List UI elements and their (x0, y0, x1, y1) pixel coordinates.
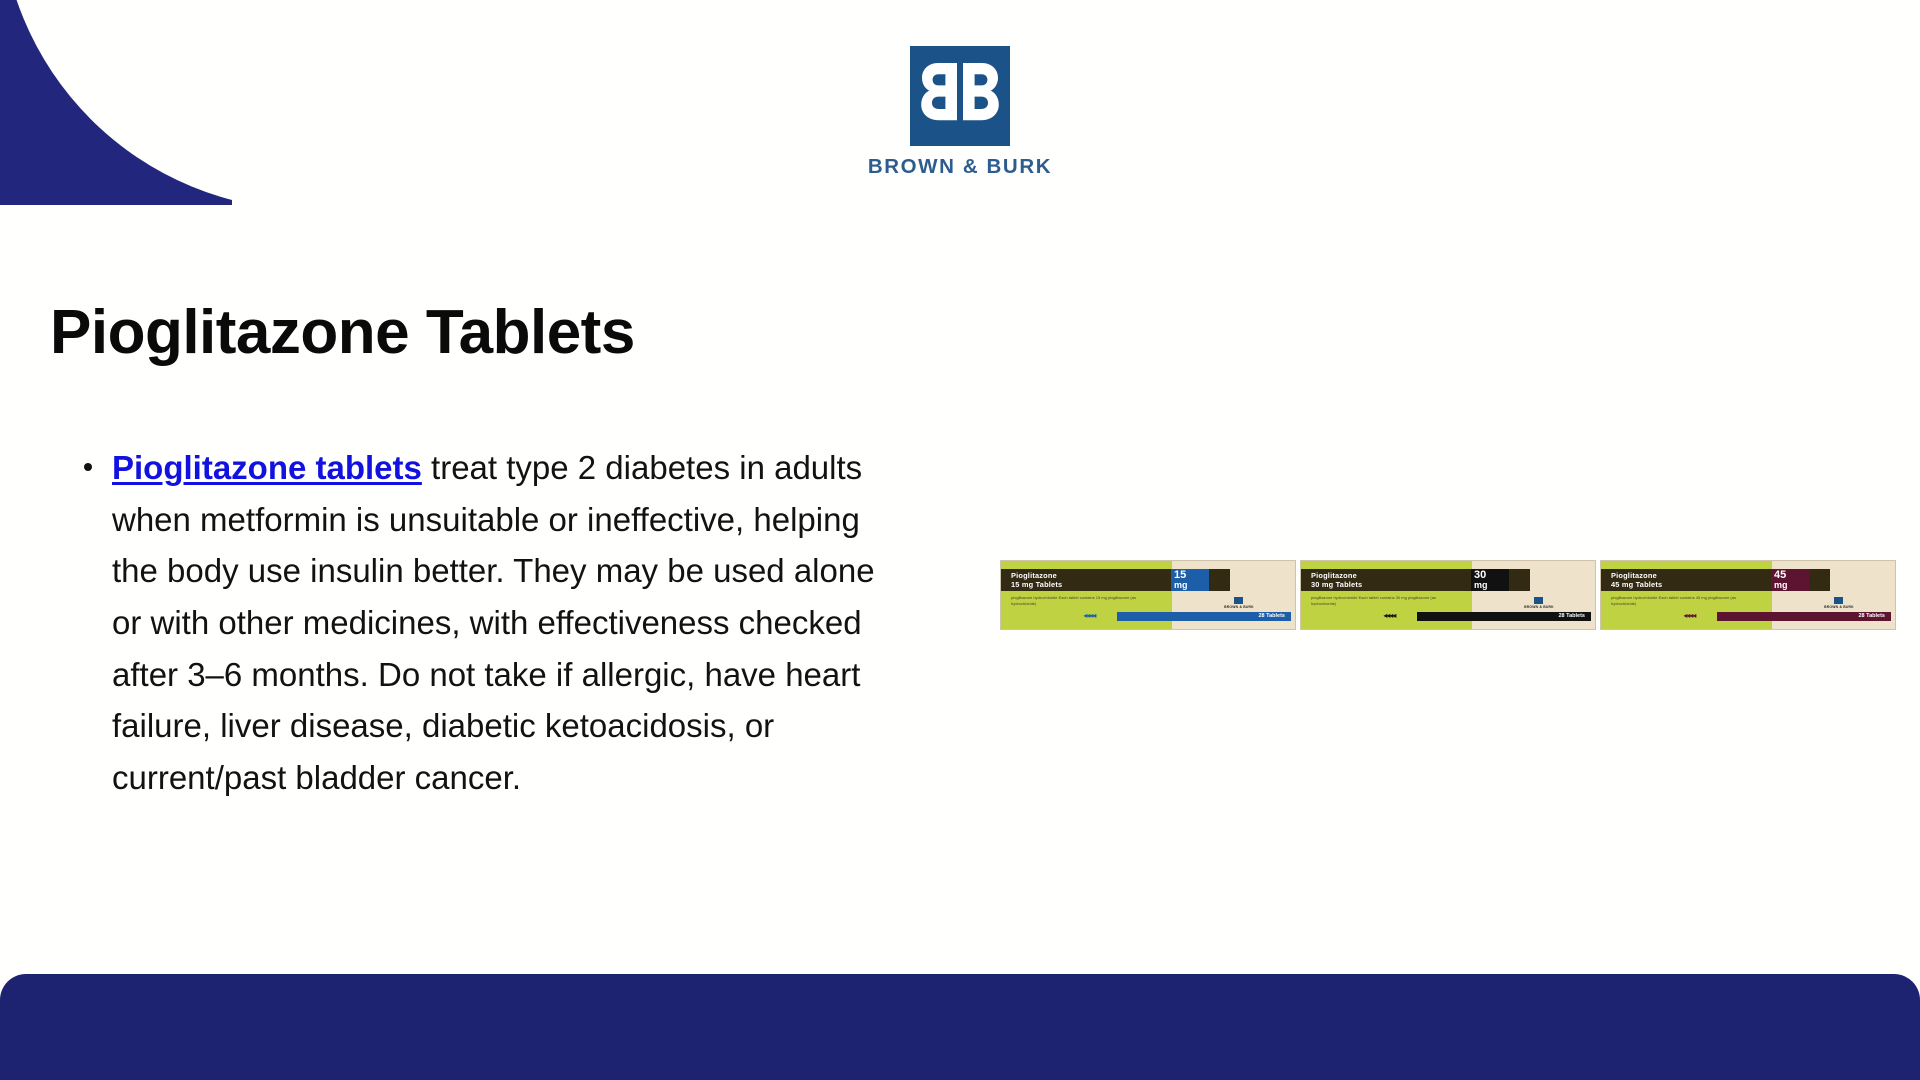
carton-product-name: Pioglitazone (1011, 571, 1057, 580)
carton-bb-icon (1234, 597, 1243, 604)
carton-brand-name: BROWN & BURK (1224, 605, 1254, 609)
carton-product-name: Pioglitazone (1311, 571, 1357, 580)
pioglitazone-tablets-link[interactable]: Pioglitazone tablets (112, 449, 422, 486)
page-title: Pioglitazone Tablets (50, 300, 635, 366)
carton-tablet-count: 28 Tablets (1259, 612, 1286, 621)
carton-strength-line: 15 mg Tablets (1011, 580, 1062, 589)
carton-badge-unit: mg (1774, 580, 1809, 590)
brand-logo: BROWN & BURK (0, 46, 1920, 179)
carton-badge-unit: mg (1174, 580, 1209, 590)
carton-fine-print: pioglitazone hydrochloride Each tablet c… (1011, 595, 1141, 607)
carton-brand-mini: BROWN & BURK (1824, 597, 1854, 609)
carton-bb-icon (1834, 597, 1843, 604)
brand-name: BROWN & BURK (868, 155, 1052, 179)
carton-bottom-strip: ◂◂◂◂ 28 Tablets (1383, 612, 1591, 621)
carton-brand-mini: BROWN & BURK (1224, 597, 1254, 609)
carton-strength-line: 45 mg Tablets (1611, 580, 1662, 589)
carton-product-name: Pioglitazone (1611, 571, 1657, 580)
carton-bottom-strip: ◂◂◂◂ 28 Tablets (1083, 612, 1291, 621)
carton-brand-name: BROWN & BURK (1524, 605, 1554, 609)
chevron-arrows-icon: ◂◂◂◂ (1083, 611, 1095, 621)
carton-15mg: Pioglitazone 15 mg Tablets 15 mg pioglit… (1000, 560, 1296, 630)
carton-strength-line: 30 mg Tablets (1311, 580, 1362, 589)
carton-badge-unit: mg (1474, 580, 1509, 590)
carton-brand-mini: BROWN & BURK (1524, 597, 1554, 609)
carton-bottom-strip: ◂◂◂◂ 28 Tablets (1683, 612, 1891, 621)
list-item: Pioglitazone tablets treat type 2 diabet… (72, 442, 902, 803)
carton-fine-print: pioglitazone hydrochloride Each tablet c… (1311, 595, 1441, 607)
bullet-body-text: treat type 2 diabetes in adults when met… (112, 449, 875, 796)
carton-strength-badge: 30 mg (1471, 569, 1509, 591)
chevron-arrows-icon: ◂◂◂◂ (1383, 611, 1395, 621)
carton-tablet-count: 28 Tablets (1859, 612, 1886, 621)
carton-bb-icon (1534, 597, 1543, 604)
slide: BROWN & BURK Pioglitazone Tablets Piogli… (0, 0, 1920, 1080)
chevron-arrows-icon: ◂◂◂◂ (1683, 611, 1695, 621)
carton-30mg: Pioglitazone 30 mg Tablets 30 mg pioglit… (1300, 560, 1596, 630)
carton-strength-badge: 15 mg (1171, 569, 1209, 591)
carton-fine-print: pioglitazone hydrochloride Each tablet c… (1611, 595, 1741, 607)
body-bullet-list: Pioglitazone tablets treat type 2 diabet… (72, 442, 902, 803)
product-photo: Pioglitazone 15 mg Tablets 15 mg pioglit… (1000, 560, 1896, 638)
carton-45mg: Pioglitazone 45 mg Tablets 45 mg pioglit… (1600, 560, 1896, 630)
bb-monogram-icon (910, 46, 1010, 146)
carton-strength-badge: 45 mg (1771, 569, 1809, 591)
bottom-navy-band (0, 974, 1920, 1080)
carton-tablet-count: 28 Tablets (1559, 612, 1586, 621)
carton-brand-name: BROWN & BURK (1824, 605, 1854, 609)
